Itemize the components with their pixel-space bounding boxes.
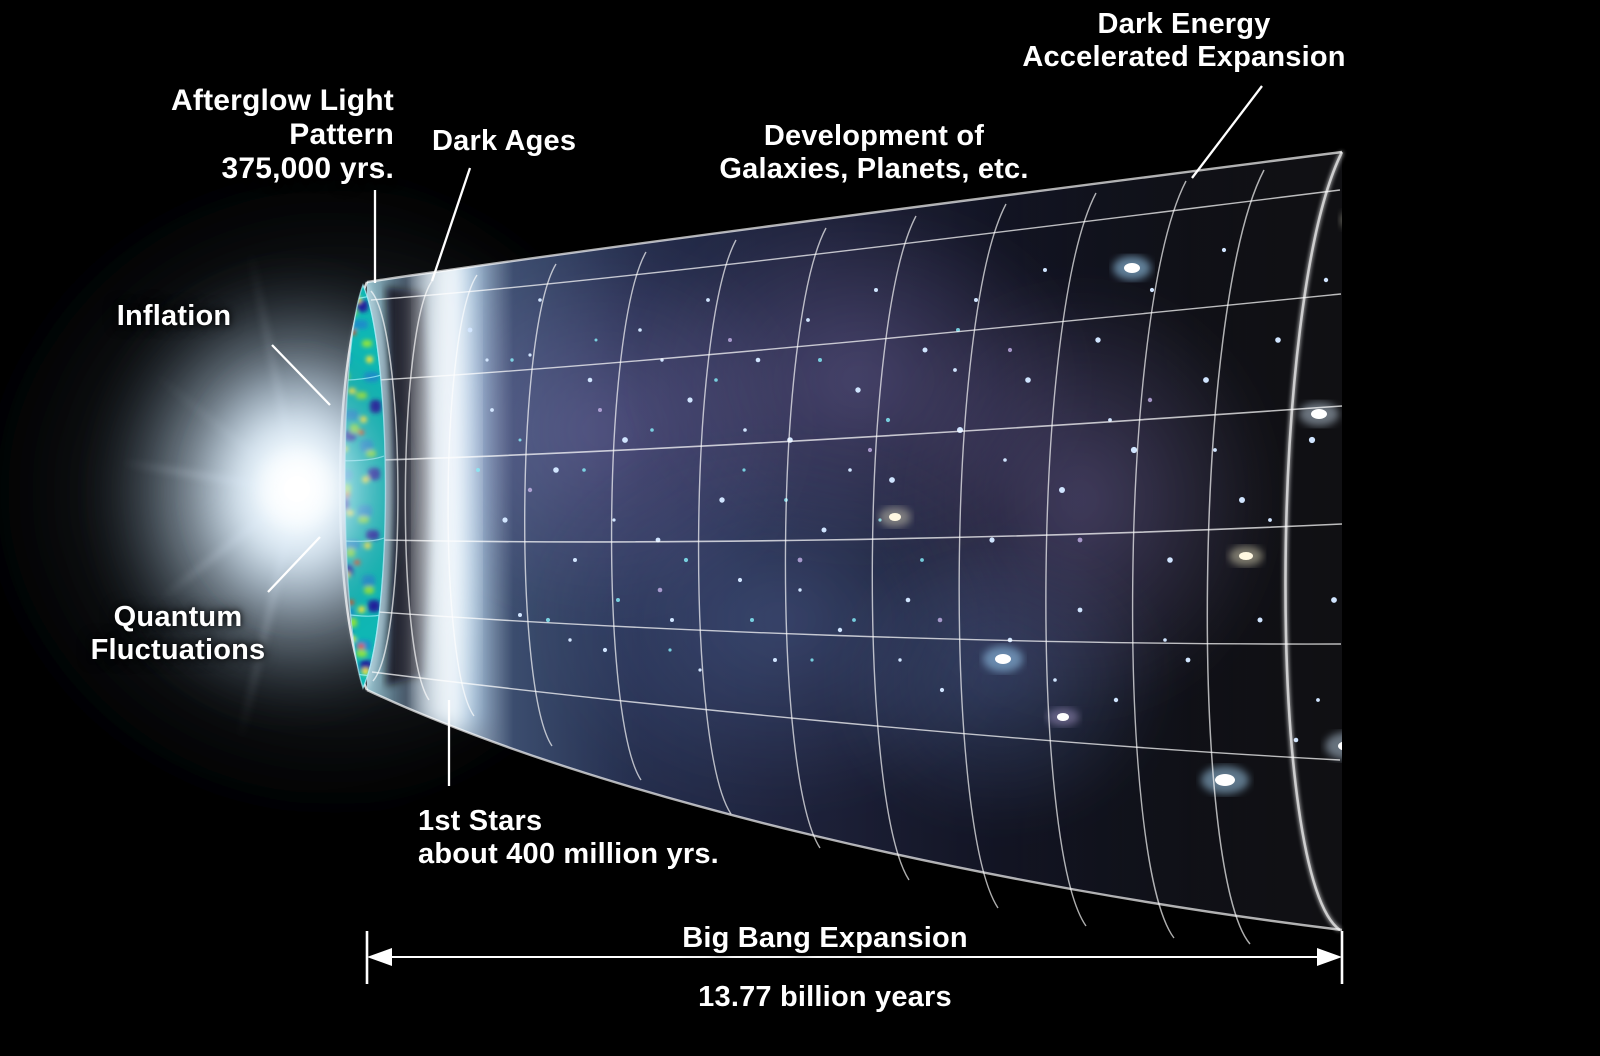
label-dark-ages: Dark Ages: [432, 125, 612, 158]
label-quantum-fluctuations: Quantum Fluctuations: [58, 601, 298, 667]
cosmic-timeline-figure: Afterglow Light Pattern 375,000 yrs. Inf…: [0, 0, 1600, 1056]
label-duration: 13.77 billion years: [605, 981, 1045, 1014]
label-big-bang-expansion: Big Bang Expansion: [605, 922, 1045, 955]
label-development-of-galaxies: Development of Galaxies, Planets, etc.: [664, 120, 1084, 186]
label-dark-energy-accelerated-expansion: Dark Energy Accelerated Expansion: [982, 8, 1386, 74]
label-first-stars: 1st Stars about 400 million yrs.: [418, 805, 818, 871]
label-inflation: Inflation: [60, 300, 288, 333]
label-afterglow-light-pattern: Afterglow Light Pattern 375,000 yrs.: [34, 84, 394, 187]
